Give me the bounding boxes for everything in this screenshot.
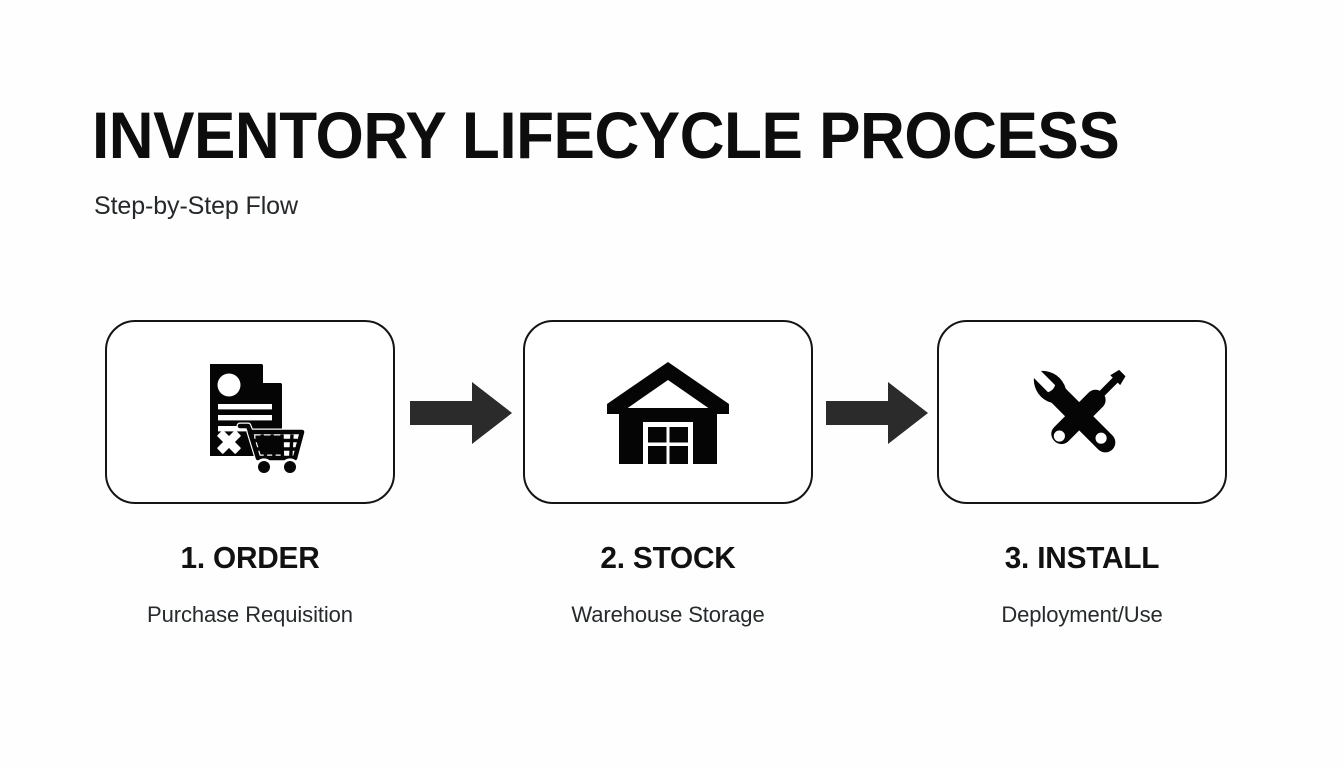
process-step-1[interactable]	[105, 320, 395, 504]
flow-connector-2	[826, 382, 928, 444]
slide-canvas: INVENTORY LIFECYCLE PROCESS Step-by-Step…	[0, 0, 1344, 768]
step-card-install[interactable]	[937, 320, 1227, 504]
warehouse-icon	[605, 356, 731, 468]
step-caption-2: 2. STOCK Warehouse Storage	[523, 540, 813, 628]
process-flow-row	[0, 320, 1344, 510]
slide-header: INVENTORY LIFECYCLE PROCESS Step-by-Step…	[92, 100, 1252, 220]
step-title-stock: 2. STOCK	[529, 540, 807, 576]
step-description-install: Deployment/Use	[937, 602, 1227, 628]
process-step-2[interactable]	[523, 320, 813, 504]
page-subtitle: Step-by-Step Flow	[94, 192, 1252, 220]
step-description-stock: Warehouse Storage	[523, 602, 813, 628]
step-card-stock[interactable]	[523, 320, 813, 504]
right-arrow-icon	[410, 382, 512, 444]
step-title-order: 1. ORDER	[111, 540, 389, 576]
step-caption-1: 1. ORDER Purchase Requisition	[105, 540, 395, 628]
step-title-install: 3. INSTALL	[943, 540, 1221, 576]
process-step-3[interactable]	[937, 320, 1227, 504]
document-with-shopping-cart-icon	[188, 350, 312, 474]
page-title: INVENTORY LIFECYCLE PROCESS	[92, 100, 1182, 170]
flow-connector-1	[410, 382, 512, 444]
wrench-and-screwdriver-icon	[1020, 350, 1144, 474]
step-caption-3: 3. INSTALL Deployment/Use	[937, 540, 1227, 628]
step-description-order: Purchase Requisition	[105, 602, 395, 628]
step-card-order[interactable]	[105, 320, 395, 504]
right-arrow-icon	[826, 382, 928, 444]
